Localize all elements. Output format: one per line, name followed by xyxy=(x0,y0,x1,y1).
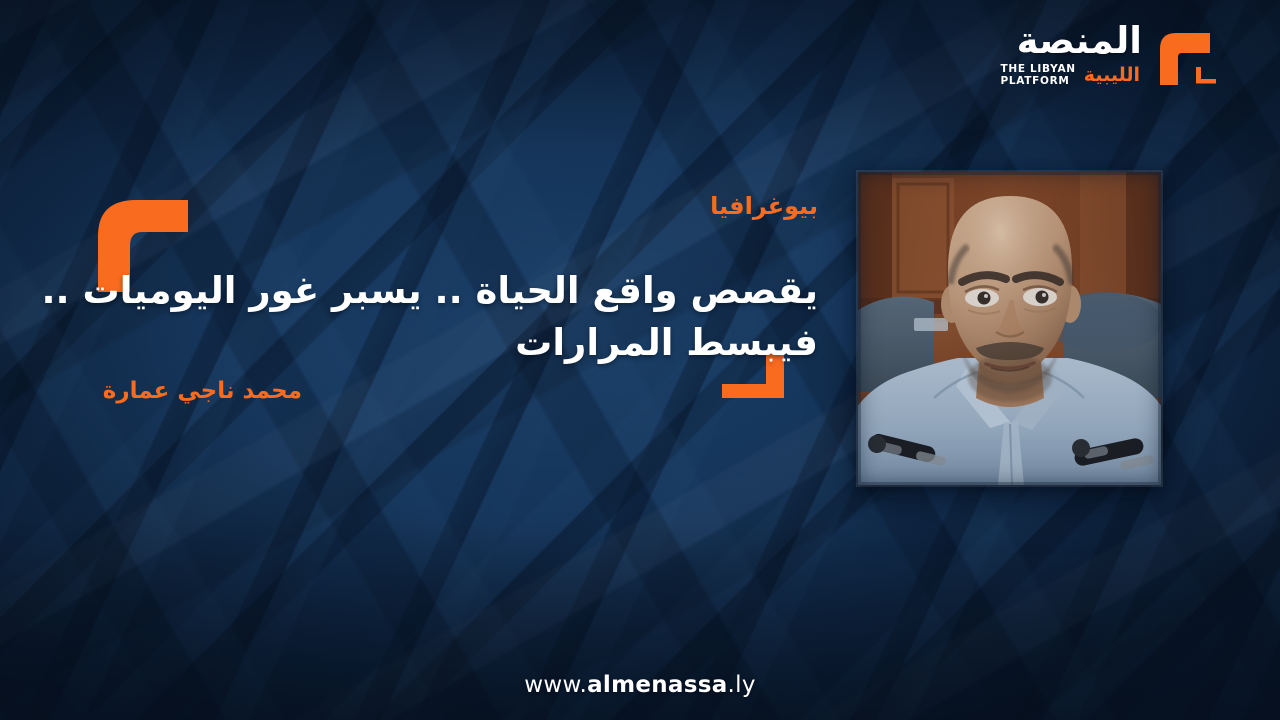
brand-logo[interactable]: المنصة الليبية THE LIBYAN PLATFORM xyxy=(1000,22,1218,87)
site-url-prefix: www. xyxy=(524,672,587,698)
author-byline: محمد ناجي عمارة xyxy=(0,378,302,404)
brand-logo-text: المنصة الليبية THE LIBYAN PLATFORM xyxy=(1000,22,1142,87)
logo-english-line-2: PLATFORM xyxy=(1000,75,1069,87)
logo-arabic-sub: الليبية xyxy=(1084,66,1140,85)
page-title: يقصص واقع الحياة .. يسبر غور اليوميات ..… xyxy=(0,265,818,370)
almenassa-bracket-mark-icon xyxy=(1152,23,1218,87)
site-url[interactable]: www.almenassa.ly xyxy=(0,672,1280,698)
logo-english-name: THE LIBYAN PLATFORM xyxy=(1000,63,1075,87)
site-url-suffix: .ly xyxy=(728,672,756,698)
portrait-photo xyxy=(858,172,1161,485)
logo-english-line-1: THE LIBYAN xyxy=(1000,63,1075,75)
category-label: بيوغرافيا xyxy=(0,192,818,220)
biography-card: المنصة الليبية THE LIBYAN PLATFORM بيوغر… xyxy=(0,0,1280,720)
site-url-name: almenassa xyxy=(587,672,727,698)
logo-arabic-main: المنصة xyxy=(1017,22,1142,59)
